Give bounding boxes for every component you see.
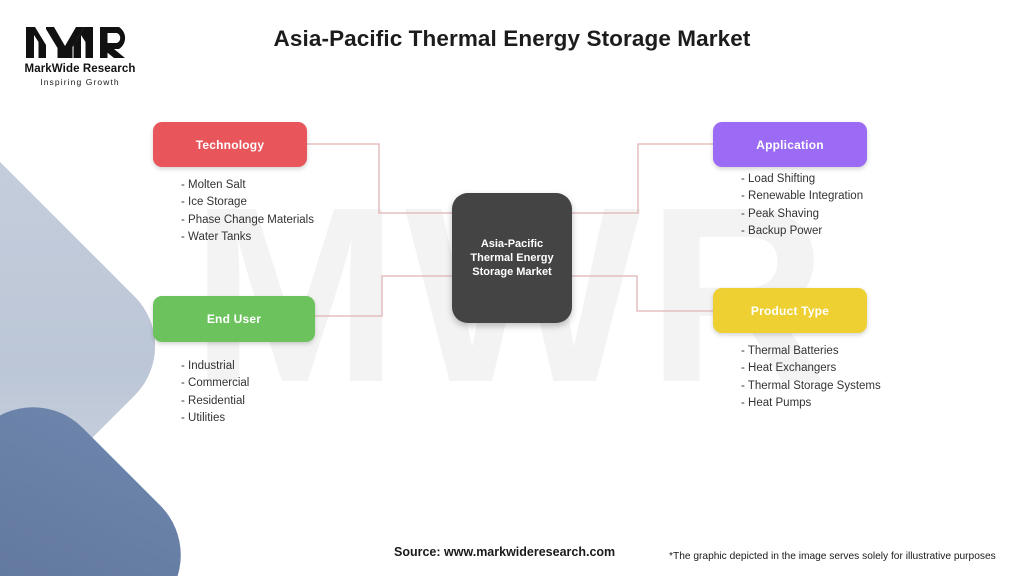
source-label: Source: www.markwideresearch.com: [394, 545, 615, 559]
connector-enduser: [315, 276, 452, 316]
node-technology[interactable]: Technology: [153, 122, 307, 167]
node-end-user-label: End User: [207, 312, 261, 326]
list-item: - Phase Change Materials: [181, 212, 314, 229]
node-technology-label: Technology: [196, 138, 264, 152]
list-item: - Industrial: [181, 358, 249, 375]
list-item: - Thermal Batteries: [741, 343, 881, 360]
node-application-label: Application: [756, 138, 824, 152]
list-item: - Peak Shaving: [741, 206, 863, 223]
node-application[interactable]: Application: [713, 122, 867, 167]
brand-name: MarkWide Research: [15, 63, 145, 75]
list-item: - Molten Salt: [181, 177, 314, 194]
node-product-type-label: Product Type: [751, 304, 829, 318]
list-item: - Utilities: [181, 410, 249, 427]
list-item: - Water Tanks: [181, 229, 314, 246]
bullets-product-type: - Thermal Batteries - Heat Exchangers - …: [741, 343, 881, 413]
list-item: - Backup Power: [741, 223, 863, 240]
list-item: - Ice Storage: [181, 194, 314, 211]
connector-application: [572, 144, 713, 213]
node-end-user[interactable]: End User: [153, 296, 315, 342]
page-title: Asia-Pacific Thermal Energy Storage Mark…: [0, 26, 1024, 52]
list-item: - Renewable Integration: [741, 188, 863, 205]
center-node-label: Asia-Pacific Thermal Energy Storage Mark…: [462, 237, 562, 280]
node-product-type[interactable]: Product Type: [713, 288, 867, 333]
connector-producttype: [572, 276, 713, 311]
center-node[interactable]: Asia-Pacific Thermal Energy Storage Mark…: [452, 193, 572, 323]
bullets-end-user: - Industrial - Commercial - Residential …: [181, 358, 249, 428]
list-item: - Residential: [181, 393, 249, 410]
disclaimer-label: *The graphic depicted in the image serve…: [669, 551, 996, 562]
bullets-technology: - Molten Salt - Ice Storage - Phase Chan…: [181, 177, 314, 247]
list-item: - Load Shifting: [741, 171, 863, 188]
list-item: - Heat Pumps: [741, 395, 881, 412]
list-item: - Commercial: [181, 375, 249, 392]
connector-technology: [307, 144, 452, 213]
infographic-canvas: MWR MarkWide Research Inspiring Growth A…: [0, 0, 1024, 576]
bullets-application: - Load Shifting - Renewable Integration …: [741, 171, 863, 241]
list-item: - Thermal Storage Systems: [741, 378, 881, 395]
list-item: - Heat Exchangers: [741, 360, 881, 377]
brand-tagline: Inspiring Growth: [15, 77, 145, 87]
